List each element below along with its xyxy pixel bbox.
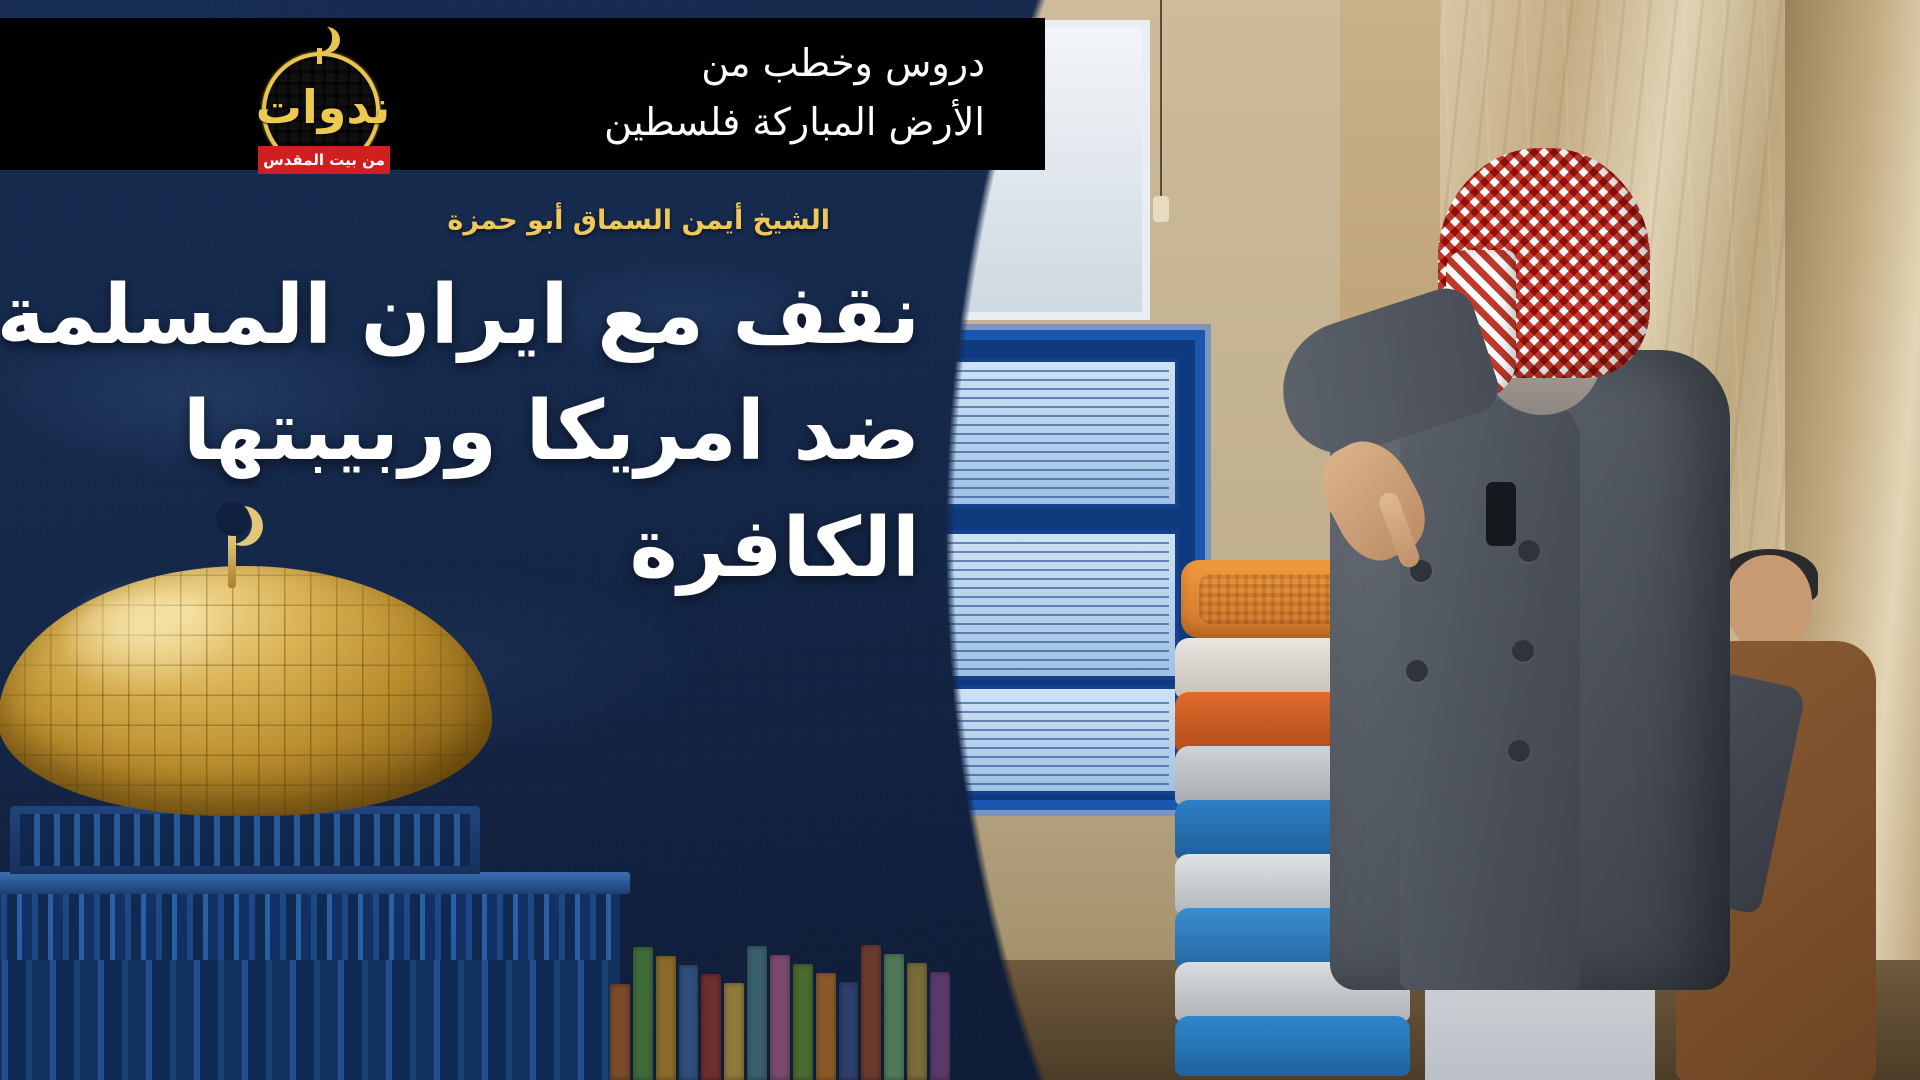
book-spine — [633, 947, 653, 1080]
speaker-name: الشيخ أيمن السماق أبو حمزة — [447, 205, 830, 236]
channel-tagline: دروس وخطب من الأرض المباركة فلسطين — [425, 34, 985, 152]
dome-tilework — [0, 960, 620, 1080]
thumbnail-canvas: ندوات من بيت المقدس دروس وخطب من الأرض ا… — [0, 0, 1920, 1080]
board-pane-3 — [886, 685, 1179, 795]
dome-mosaic-band — [0, 890, 620, 960]
coat-button — [1512, 640, 1534, 662]
book-spine — [770, 955, 790, 1080]
title-line-3: الكافرة — [40, 491, 920, 607]
clip-microphone — [1486, 482, 1516, 546]
speaking-sheikh — [1250, 100, 1810, 1080]
hanging-wire — [1160, 0, 1162, 200]
logo-wordmark: ندوات — [248, 84, 398, 130]
book-spine — [656, 956, 676, 1080]
book-spine — [610, 984, 630, 1080]
board-pane-1 — [886, 358, 1179, 508]
book-spine — [793, 964, 813, 1080]
coat-button — [1406, 660, 1428, 682]
tagline-line-1: دروس وخطب من — [425, 34, 985, 93]
video-title: نقف مع ايران المسلمة ضد امريكا وربيبتها … — [40, 258, 920, 607]
board-text-lines — [896, 368, 1169, 498]
book-spine — [747, 946, 767, 1080]
board-text-lines — [896, 540, 1169, 670]
coat-button — [1518, 540, 1540, 562]
logo-ribbon: من بيت المقدس — [258, 146, 390, 174]
coat-button — [1508, 740, 1530, 762]
dome-of-the-rock-illustration — [0, 560, 620, 1080]
book-spine — [701, 974, 721, 1080]
dome-drum — [10, 806, 480, 874]
tagline-line-2: الأرض المباركة فلسطين — [425, 93, 985, 152]
book-spine — [724, 983, 744, 1080]
board-text-lines — [896, 695, 1169, 785]
title-line-2: ضد امريكا وربيبتها — [40, 374, 920, 490]
board-pane-2 — [886, 530, 1179, 680]
pointing-finger — [1377, 490, 1422, 570]
book-spine — [679, 965, 699, 1080]
channel-header-bar: ندوات من بيت المقدس دروس وخطب من الأرض ا… — [0, 18, 1045, 170]
hanging-lamp — [1153, 196, 1169, 222]
title-line-1: نقف مع ايران المسلمة — [40, 258, 920, 374]
dome-cornice — [0, 872, 630, 894]
crescent-icon — [306, 26, 332, 52]
channel-logo: ندوات من بيت المقدس — [248, 24, 398, 174]
